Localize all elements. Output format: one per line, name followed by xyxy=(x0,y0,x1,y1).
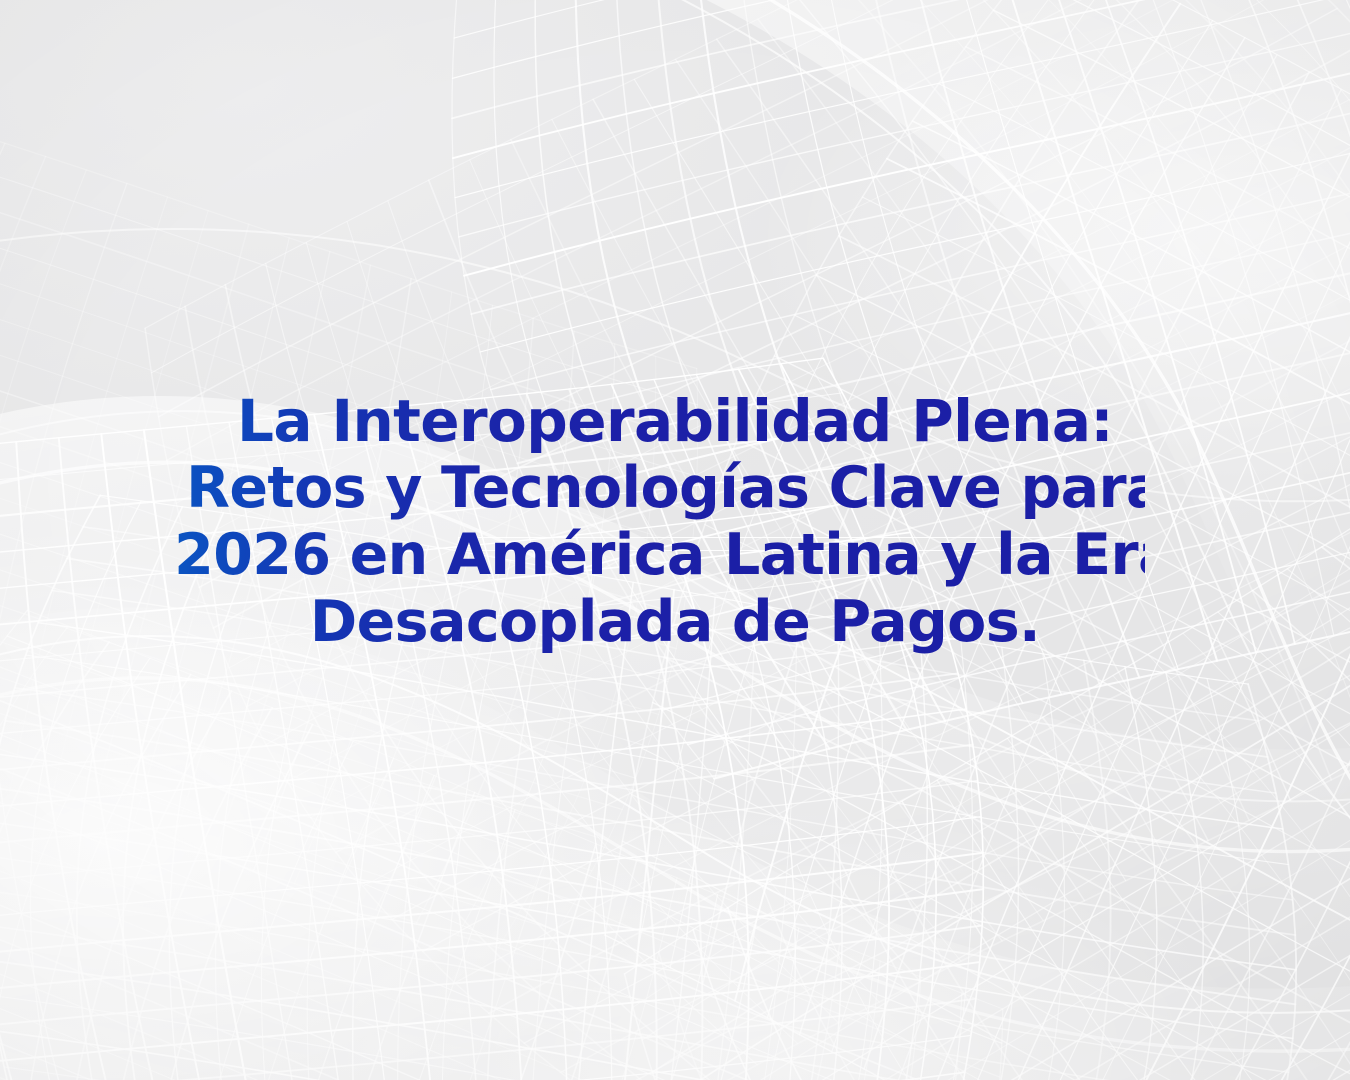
title-slide: La Interoperabilidad Plena: Retos y Tecn… xyxy=(0,0,1350,1080)
page-title: La Interoperabilidad Plena: Retos y Tecn… xyxy=(0,388,1350,656)
title-line-2: Retos y Tecnologías Clave para xyxy=(0,455,1350,522)
title-line-3: 2026 en América Latina y la Era xyxy=(0,522,1350,589)
title-line-4: Desacoplada de Pagos. xyxy=(0,589,1350,656)
ribbon-shape-2 xyxy=(0,608,1350,1080)
title-line-1: La Interoperabilidad Plena: xyxy=(0,388,1350,455)
